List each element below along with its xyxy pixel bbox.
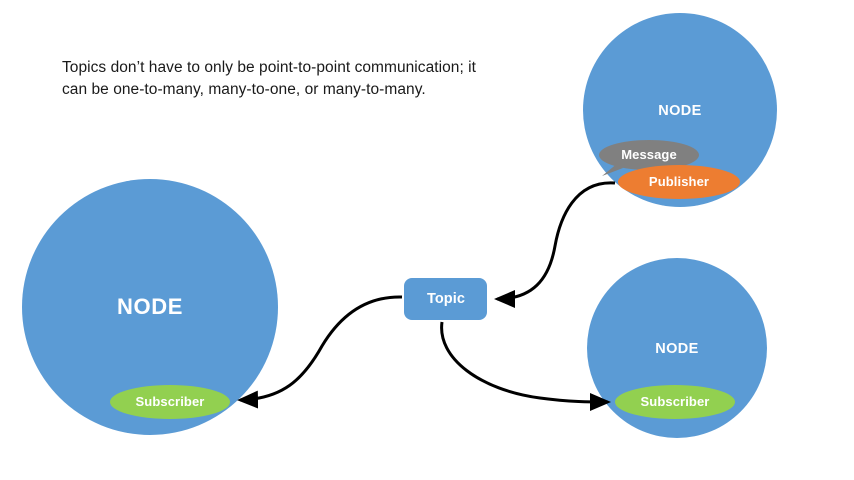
slide-canvas: Topics don’t have to only be point-to-po… [0, 0, 854, 480]
publisher-ellipse [618, 165, 740, 199]
connector-topic-to-subscriber-right [442, 322, 608, 402]
connector-publisher-to-topic [497, 183, 615, 299]
subscriber-ellipse-right [615, 385, 735, 419]
diagram-graphics [0, 0, 854, 480]
subscriber-ellipse-left [110, 385, 230, 419]
topic-box[interactable] [404, 278, 487, 320]
